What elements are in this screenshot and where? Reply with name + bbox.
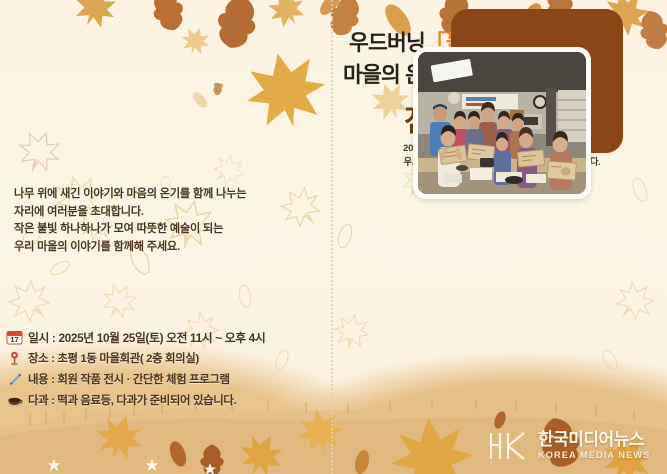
detail-text-content: 내용 : 회원 작품 전시 · 간단한 체험 프로그램 bbox=[28, 371, 230, 387]
detail-value-refreshments: 떡과 음료등, 다과가 준비되어 있습니다. bbox=[57, 395, 236, 407]
detail-row-content: 내용 : 회원 작품 전시 · 간단한 체험 프로그램 bbox=[6, 370, 326, 388]
detail-label-location: 장소 : bbox=[28, 353, 57, 365]
location-pin-icon bbox=[6, 351, 23, 366]
event-details-list: 17 일시 : 2025년 10월 25일(토) 오전 11시 ~ 오후 4시 … bbox=[6, 328, 326, 412]
detail-text-location: 장소 : 초평 1동 마을회관( 2층 회의실) bbox=[28, 350, 199, 366]
detail-row-refreshments: 다과 : 떡과 음료등, 다과가 준비되어 있습니다. bbox=[6, 391, 326, 409]
tea-cup-icon bbox=[6, 393, 23, 408]
detail-label-content: 내용 : bbox=[28, 374, 57, 386]
poster-canvas: 나무 위에 새긴 이야기와 마음의 온기를 함께 나누는 자리에 여러분을 초대… bbox=[0, 0, 667, 474]
invitation-message: 나무 위에 새긴 이야기와 마음의 온기를 함께 나누는 자리에 여러분을 초대… bbox=[14, 186, 320, 256]
calendar-day-number: 17 bbox=[10, 335, 18, 344]
detail-text-refreshments: 다과 : 떡과 음료등, 다과가 준비되어 있습니다. bbox=[28, 392, 236, 408]
pen-brush-icon bbox=[6, 372, 23, 387]
calendar-icon: 17 bbox=[6, 330, 23, 345]
watermark-text-group: 한국미디어뉴스 KOREA MEDIA NEWS bbox=[538, 431, 650, 460]
detail-row-date: 17 일시 : 2025년 10월 25일(토) 오전 11시 ~ 오후 4시 bbox=[6, 328, 326, 346]
detail-value-content: 회원 작품 전시 · 간단한 체험 프로그램 bbox=[57, 374, 229, 386]
right-panel: 우드버닝「불타는 예술」 마을의 온기를 담은 주민작품 전시회 초대장 202… bbox=[331, 0, 667, 474]
watermark-name-en: KOREA MEDIA NEWS bbox=[538, 451, 650, 460]
detail-value-date: 2025년 10월 25일(토) 오전 11시 ~ 오후 4시 bbox=[58, 331, 265, 345]
photo-frame bbox=[413, 47, 591, 199]
detail-row-location: 장소 : 초평 1동 마을회관( 2층 회의실) bbox=[6, 349, 326, 367]
left-panel: 나무 위에 새긴 이야기와 마음의 온기를 함께 나누는 자리에 여러분을 초대… bbox=[0, 0, 331, 474]
photo-composition bbox=[395, 7, 655, 227]
detail-label-refreshments: 다과 : bbox=[28, 395, 57, 407]
watermark-name-ko: 한국미디어뉴스 bbox=[538, 431, 650, 448]
event-photo bbox=[418, 52, 586, 194]
watermark-logo: 한국미디어뉴스 KOREA MEDIA NEWS bbox=[487, 426, 659, 466]
detail-text-date: 일시 : 2025년 10월 25일(토) 오전 11시 ~ 오후 4시 bbox=[28, 329, 265, 346]
detail-value-location: 초평 1동 마을회관( 2층 회의실) bbox=[57, 353, 199, 365]
detail-label-date: 일시 : bbox=[28, 331, 58, 345]
hk-monogram-icon bbox=[487, 430, 531, 462]
